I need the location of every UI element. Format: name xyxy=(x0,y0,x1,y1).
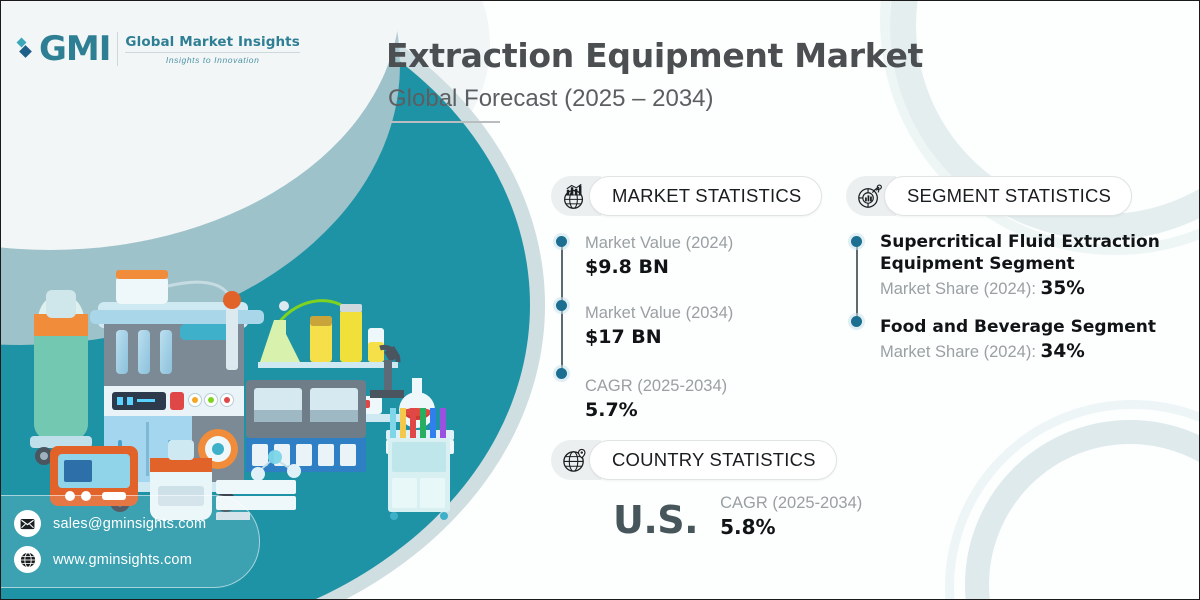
page-subtitle: Global Forecast (2025 – 2034) xyxy=(388,85,714,113)
brand-name: Global Market Insights xyxy=(125,34,299,50)
laboratory-extraction-equipment-illustration xyxy=(20,190,500,520)
brand-logo[interactable]: GMI Global Market Insights Insights to I… xyxy=(18,32,300,66)
segment-statistics-rows: Supercritical Fluid Extraction Equipment… xyxy=(846,232,1160,365)
market-statistics-label-pill: MARKET STATISTICS xyxy=(589,176,822,216)
segment-bullet-0 xyxy=(851,236,862,247)
segment-share-value: 34% xyxy=(1041,341,1085,362)
contact-email-row[interactable]: sales@gminsights.com xyxy=(14,510,241,537)
country-statistics-block: COUNTRY STATISTICS U.S. CAGR (2025-2034)… xyxy=(551,440,862,539)
country-cagr: CAGR (2025-2034) 5.8% xyxy=(720,494,862,539)
segment-share: Market Share (2024): 35% xyxy=(880,276,1160,302)
market-row-value: $9.8 BN xyxy=(585,255,822,281)
bottom-right-arc xyxy=(965,420,1200,600)
brand-tagline: Insights to Innovation xyxy=(125,55,299,65)
country-name: U.S. xyxy=(613,501,698,539)
market-row-label: Market Value (2034) xyxy=(585,302,822,324)
market-row-label: Market Value (2024) xyxy=(585,232,822,254)
contact-panel: sales@gminsights.com www.gminsights.com xyxy=(0,495,260,588)
title-underline xyxy=(390,121,500,123)
logo-rule xyxy=(125,52,299,53)
segment-heading-line2: Equipment Segment xyxy=(880,254,1160,276)
market-statistics-block: MARKET STATISTICS Market Value (2024) $9… xyxy=(551,176,822,440)
bottom-right-outer-arc xyxy=(945,400,1200,600)
globe-icon xyxy=(14,546,41,573)
contact-email: sales@gminsights.com xyxy=(53,516,206,532)
country-statistics-badge[interactable]: COUNTRY STATISTICS xyxy=(551,440,837,480)
country-statistics-label-pill: COUNTRY STATISTICS xyxy=(589,440,837,480)
envelope-icon xyxy=(14,510,41,537)
market-bullet-0 xyxy=(556,236,567,247)
market-row-value: 5.7% xyxy=(585,398,822,424)
segment-heading-line1: Food and Beverage Segment xyxy=(880,317,1160,339)
segment-share-label: Market Share (2024): xyxy=(880,343,1041,361)
page-title: Extraction Equipment Market xyxy=(386,36,923,75)
market-row: Market Value (2034) $17 BN xyxy=(585,302,822,351)
market-statistics-label: MARKET STATISTICS xyxy=(612,185,801,207)
segment-rail xyxy=(856,240,858,324)
market-row: Market Value (2024) $9.8 BN xyxy=(585,232,822,281)
segment-share-label: Market Share (2024): xyxy=(880,280,1041,298)
gmi-diamond-logo-icon xyxy=(18,36,32,62)
country-statistics-body: U.S. CAGR (2025-2034) 5.8% xyxy=(551,494,862,539)
segment-row: Supercritical Fluid Extraction Equipment… xyxy=(880,232,1160,301)
segment-statistics-label: SEGMENT STATISTICS xyxy=(907,185,1111,207)
market-row-value: $17 BN xyxy=(585,325,822,351)
country-cagr-value: 5.8% xyxy=(720,515,862,539)
country-cagr-label: CAGR (2025-2034) xyxy=(720,494,862,513)
country-statistics-label: COUNTRY STATISTICS xyxy=(612,449,816,471)
segment-statistics-block: SEGMENT STATISTICS Supercritical Fluid E… xyxy=(846,176,1160,381)
segment-heading-line1: Supercritical Fluid Extraction xyxy=(880,232,1160,254)
brand-mark: GMI xyxy=(39,32,110,66)
logo-divider xyxy=(117,32,118,66)
segment-statistics-label-pill: SEGMENT STATISTICS xyxy=(884,176,1132,216)
segment-bullet-1 xyxy=(851,316,862,327)
contact-website: www.gminsights.com xyxy=(53,552,192,568)
segment-statistics-badge[interactable]: SEGMENT STATISTICS xyxy=(846,176,1132,216)
segment-share-value: 35% xyxy=(1041,278,1085,299)
segment-share: Market Share (2024): 34% xyxy=(880,339,1160,365)
market-row-label: CAGR (2025-2034) xyxy=(585,375,822,397)
contact-website-row[interactable]: www.gminsights.com xyxy=(14,546,241,573)
market-row: CAGR (2025-2034) 5.7% xyxy=(585,375,822,424)
market-statistics-badge[interactable]: MARKET STATISTICS xyxy=(551,176,822,216)
infographic-canvas: GMI Global Market Insights Insights to I… xyxy=(0,0,1200,600)
segment-row: Food and Beverage Segment Market Share (… xyxy=(880,317,1160,365)
market-statistics-rows: Market Value (2024) $9.8 BN Market Value… xyxy=(551,232,822,424)
market-bullet-2 xyxy=(556,368,567,379)
market-bullet-1 xyxy=(556,300,567,311)
